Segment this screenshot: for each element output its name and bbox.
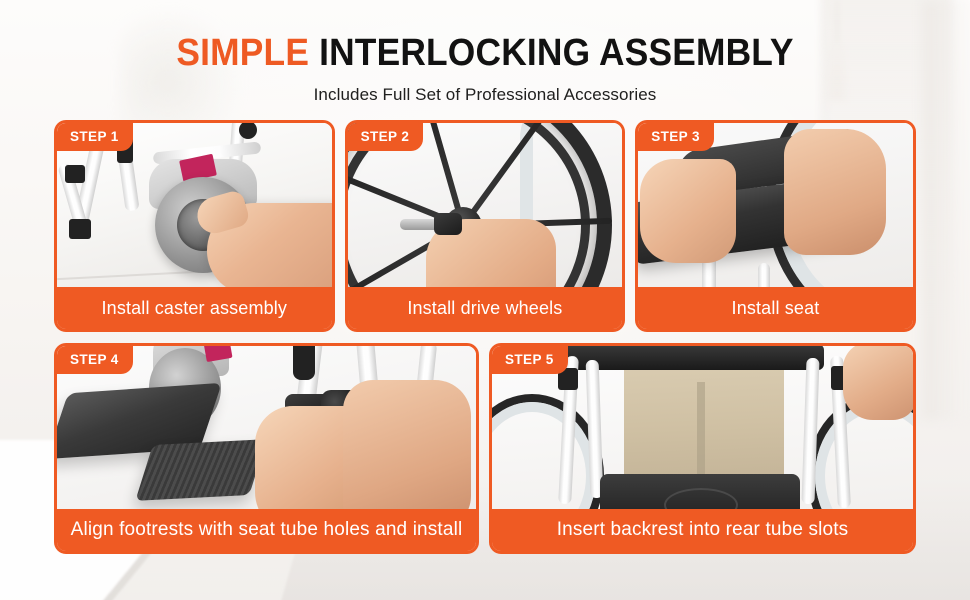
steps-grid: STEP 1 Install caster assem xyxy=(54,120,916,554)
steps-row-top: STEP 1 Install caster assem xyxy=(54,120,916,332)
page-subtitle: Includes Full Set of Professional Access… xyxy=(0,85,970,105)
step-card-1[interactable]: STEP 1 Install caster assem xyxy=(54,120,335,332)
hand-right-4 xyxy=(343,380,471,509)
step-badge-3: STEP 3 xyxy=(638,123,714,151)
step-badge-4: STEP 4 xyxy=(57,346,133,374)
page-title-rest: INTERLOCKING ASSEMBLY xyxy=(309,32,794,74)
step-card-4[interactable]: STEP 4 Align footrests with seat tube ho… xyxy=(54,343,479,554)
page-title-accent: SIMPLE xyxy=(176,32,309,74)
frame-cap-1b xyxy=(65,165,85,183)
frame-tube-3b xyxy=(758,263,770,287)
step-badge-2: STEP 2 xyxy=(348,123,424,151)
step-card-2[interactable]: STEP 2 Install drive wheels xyxy=(345,120,626,332)
step-badge-5: STEP 5 xyxy=(492,346,568,374)
tube-cap-4 xyxy=(293,346,315,380)
infographic-header: SIMPLE INTERLOCKING ASSEMBLY Includes Fu… xyxy=(0,0,970,105)
frame-cap-1c xyxy=(69,219,91,239)
step-caption-2: Install drive wheels xyxy=(348,287,623,329)
hand-right-3 xyxy=(784,129,886,255)
step-caption-4: Align footrests with seat tube holes and… xyxy=(57,509,476,551)
hand-5 xyxy=(843,346,913,420)
steps-row-bottom: STEP 4 Align footrests with seat tube ho… xyxy=(54,343,916,554)
step-card-3[interactable]: STEP 3 Install seat xyxy=(635,120,916,332)
step-caption-3: Install seat xyxy=(638,287,913,329)
step-card-5[interactable]: STEP 5 Insert backrest into rear tube sl… xyxy=(489,343,916,554)
step-caption-1: Install caster assembly xyxy=(57,287,332,329)
page-title: SIMPLE INTERLOCKING ASSEMBLY xyxy=(34,34,936,72)
seat-pan-5 xyxy=(600,474,800,509)
footrest-plate-4b xyxy=(135,439,266,501)
step-caption-5: Insert backrest into rear tube slots xyxy=(492,509,913,551)
hand-left-3 xyxy=(640,159,736,263)
axle-knob-2 xyxy=(434,213,462,235)
step-badge-1: STEP 1 xyxy=(57,123,133,151)
